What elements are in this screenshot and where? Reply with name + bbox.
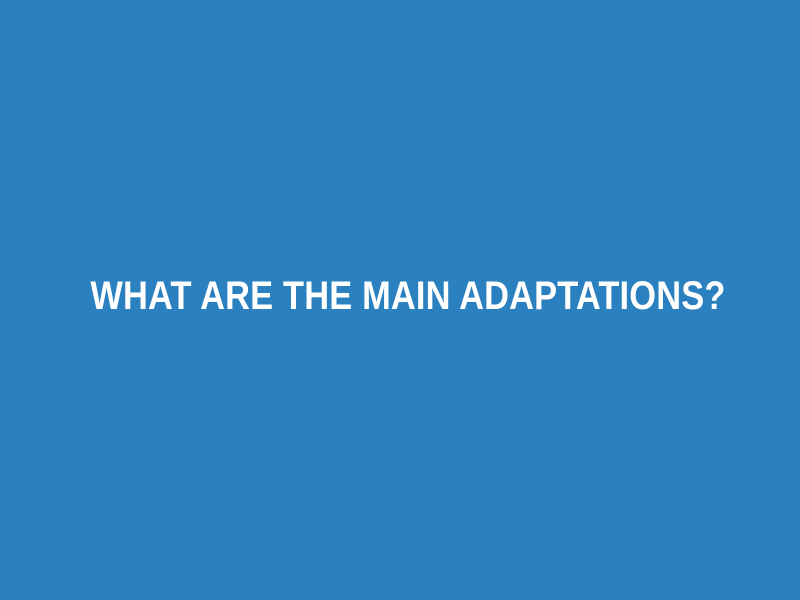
title-card: WHAT ARE THE MAIN ADAPTATIONS? <box>0 0 800 600</box>
title-block: WHAT ARE THE MAIN ADAPTATIONS? <box>0 274 800 319</box>
page-title: WHAT ARE THE MAIN ADAPTATIONS? <box>90 274 709 319</box>
